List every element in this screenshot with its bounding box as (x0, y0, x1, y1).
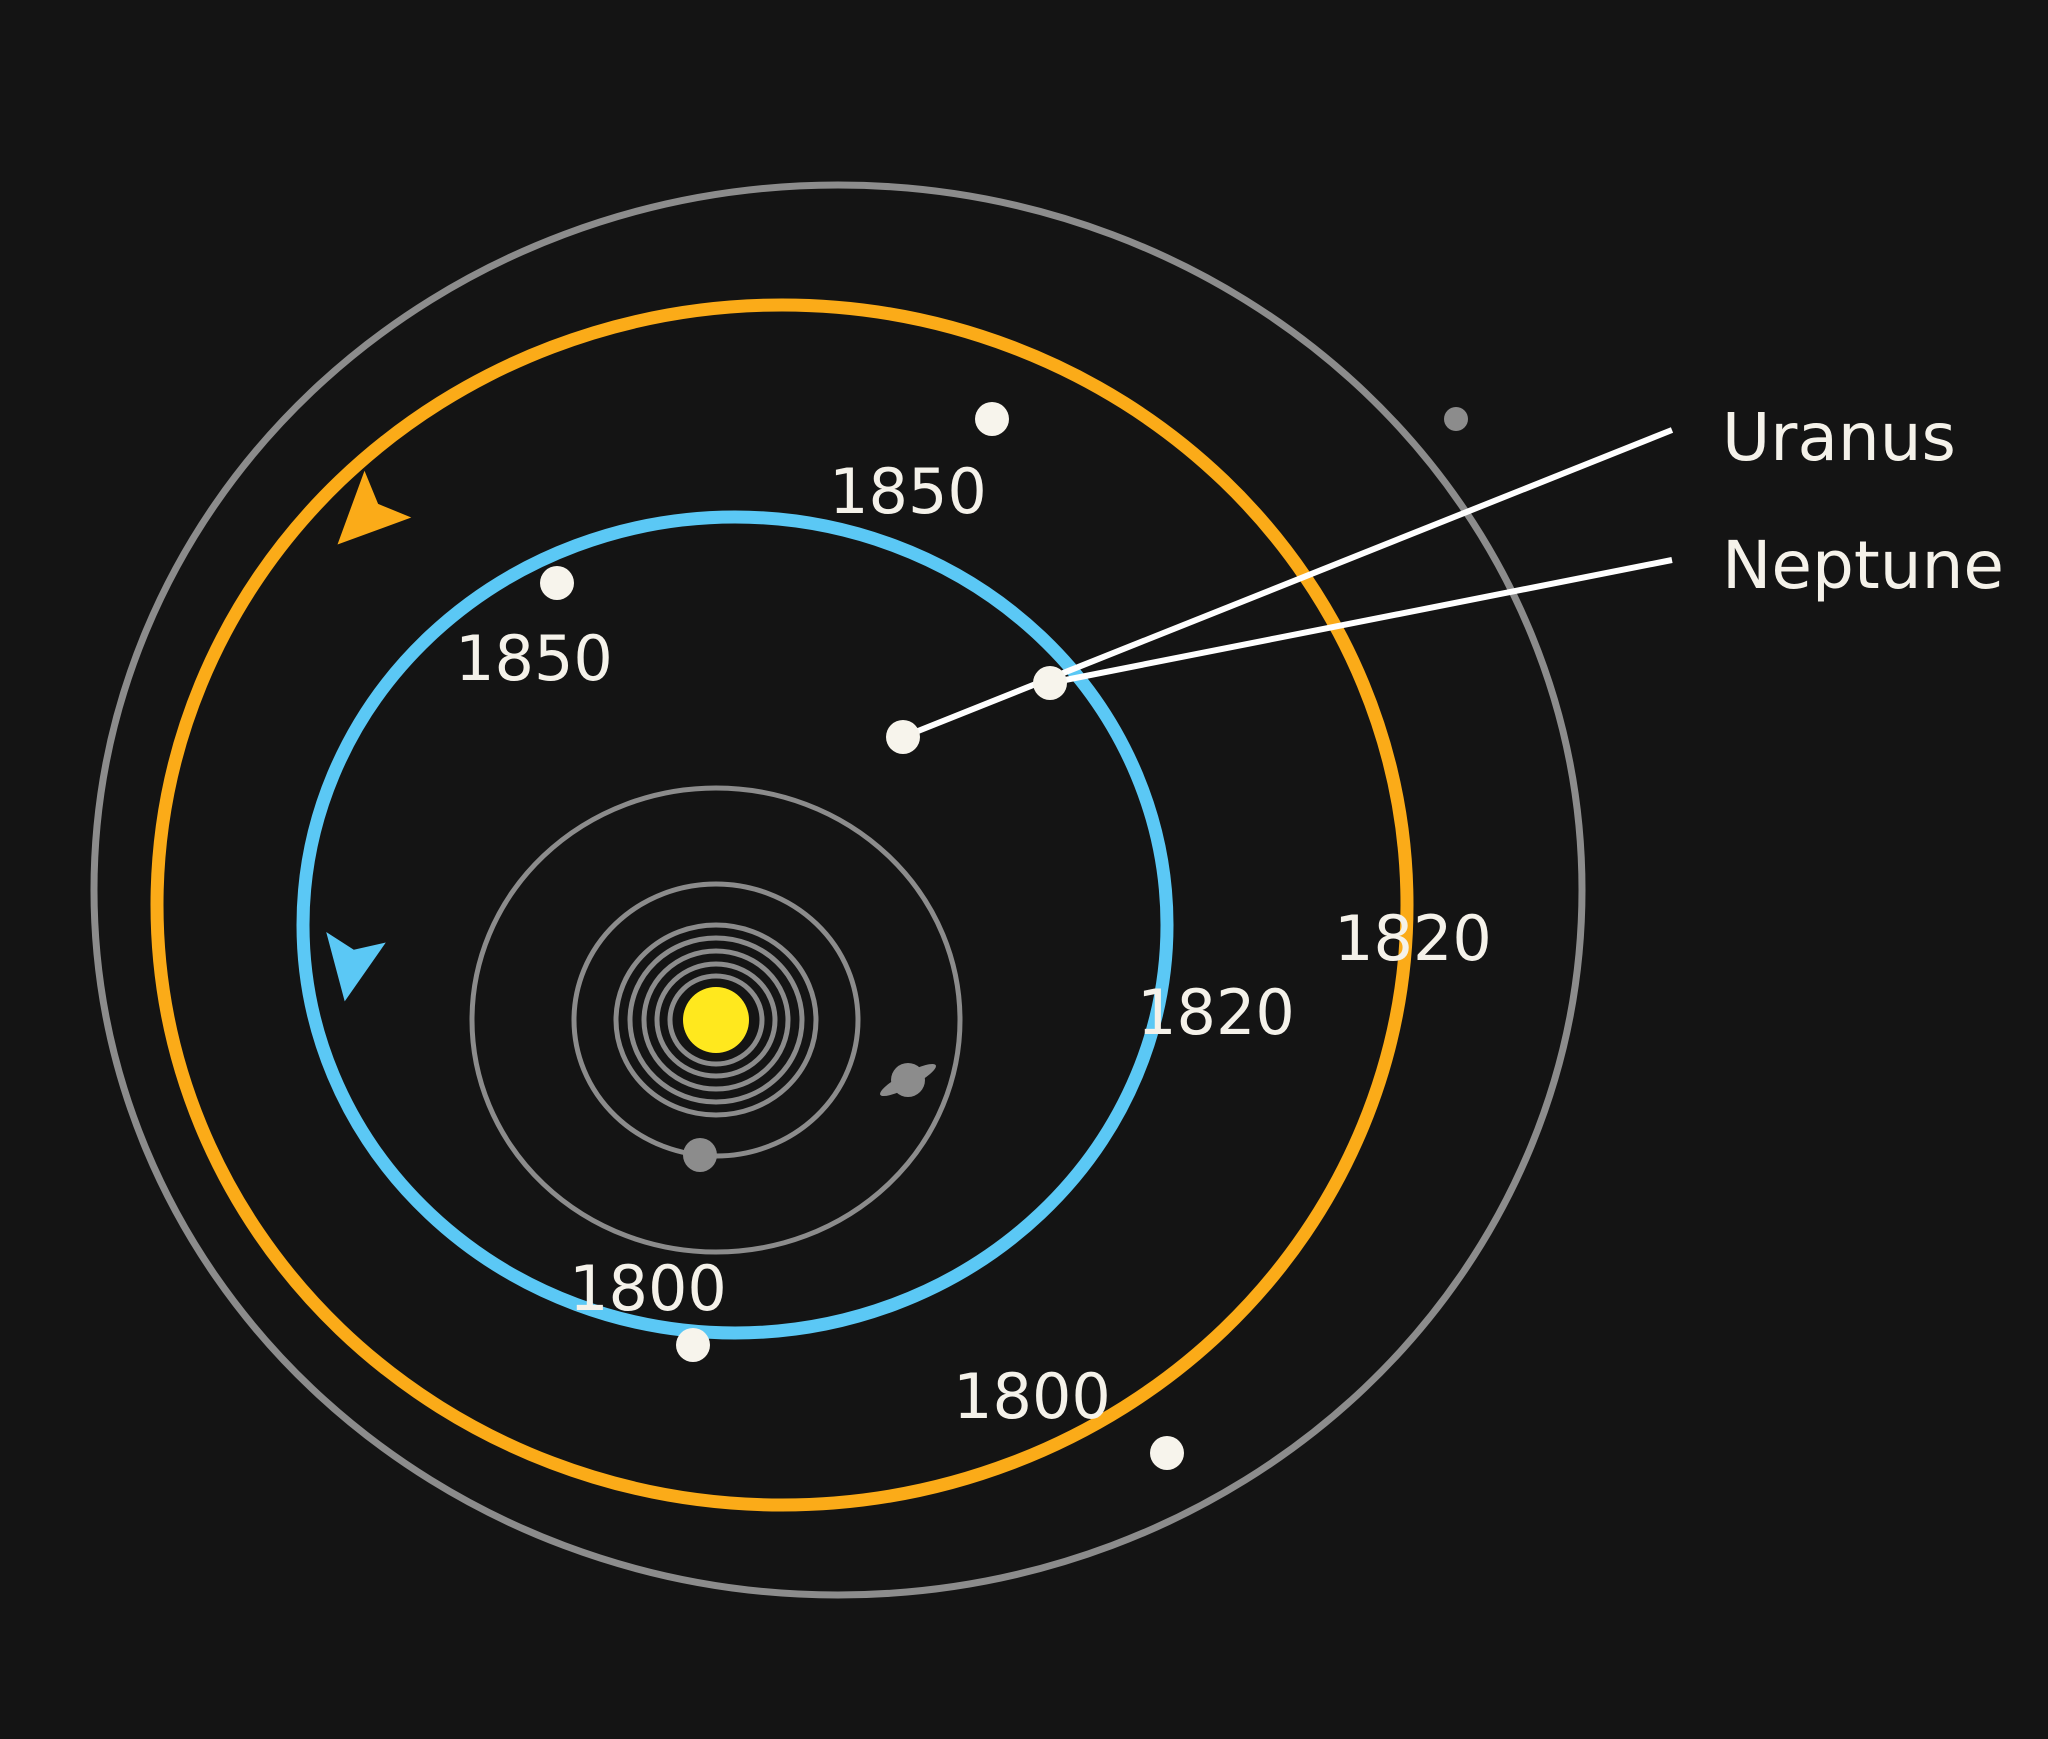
neptune-epoch-label-1820: 1820 (1334, 902, 1492, 975)
orbit-diagram-canvas: 180018201850180018201850 Uranus Neptune (0, 0, 2048, 1739)
reference-orbit-planet-marker (1444, 407, 1468, 431)
neptune-epoch-label-1850: 1850 (829, 455, 987, 528)
neptune-epoch-marker-1850[interactable] (975, 402, 1009, 436)
neptune-epoch-marker-1800[interactable] (1150, 1436, 1184, 1470)
uranus-label: Uranus (1722, 399, 1956, 476)
uranus-epoch-marker-1800[interactable] (676, 1328, 710, 1362)
uranus-epoch-marker-1850[interactable] (540, 566, 574, 600)
saturn-body-icon (891, 1063, 925, 1097)
sun-icon (683, 987, 749, 1053)
neptune-label: Neptune (1722, 527, 2004, 604)
uranus-epoch-marker-1820[interactable] (886, 720, 920, 754)
solar-system-orbit-diagram: 180018201850180018201850 Uranus Neptune (0, 0, 2048, 1739)
jupiter-planet-icon (683, 1138, 717, 1172)
neptune-epoch-label-1800: 1800 (953, 1360, 1111, 1433)
uranus-epoch-label-1850: 1850 (455, 622, 613, 695)
uranus-epoch-label-1800: 1800 (569, 1252, 727, 1325)
uranus-epoch-label-1820: 1820 (1137, 976, 1295, 1049)
neptune-epoch-marker-1820[interactable] (1033, 666, 1067, 700)
